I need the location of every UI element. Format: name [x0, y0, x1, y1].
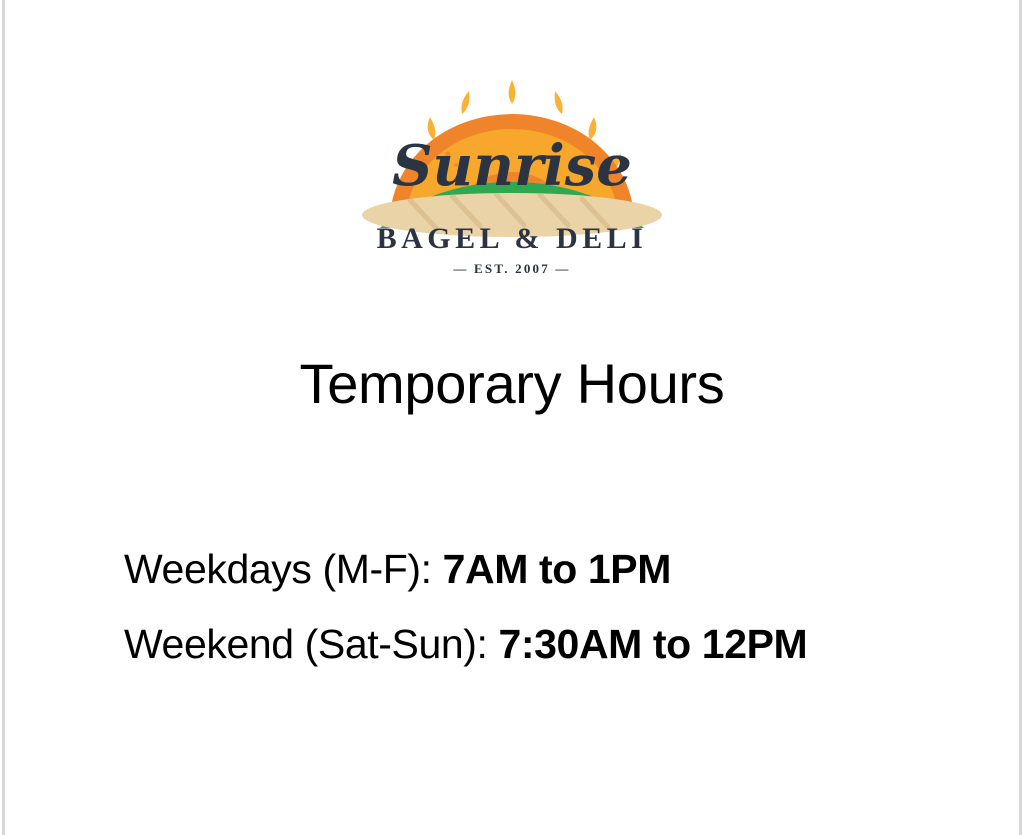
hours-row-weekdays: Weekdays (M-F): 7AM to 1PM [124, 532, 954, 607]
logo-script-name: Sunrise [392, 133, 632, 199]
logo-established-line: — EST. 2007 — [452, 261, 570, 276]
hours-value-weekend: 7:30AM to 12PM [499, 621, 808, 667]
sunrise-bagel-deli-logo-icon: Sunrise BAGEL & DELI — EST. 2007 — [352, 78, 672, 288]
hours-value-weekdays: 7AM to 1PM [443, 546, 671, 592]
hours-row-weekend: Weekend (Sat-Sun): 7:30AM to 12PM [124, 607, 954, 682]
slide-canvas: Sunrise BAGEL & DELI — EST. 2007 — Tempo… [0, 0, 1024, 835]
brand-logo: Sunrise BAGEL & DELI — EST. 2007 — [0, 78, 1024, 288]
hours-list: Weekdays (M-F): 7AM to 1PM Weekend (Sat-… [124, 532, 954, 682]
logo-wordmark: BAGEL & DELI [377, 222, 648, 255]
page-title: Temporary Hours [0, 352, 1024, 416]
hours-label-weekdays: Weekdays (M-F): [124, 546, 443, 592]
hours-label-weekend: Weekend (Sat-Sun): [124, 621, 499, 667]
